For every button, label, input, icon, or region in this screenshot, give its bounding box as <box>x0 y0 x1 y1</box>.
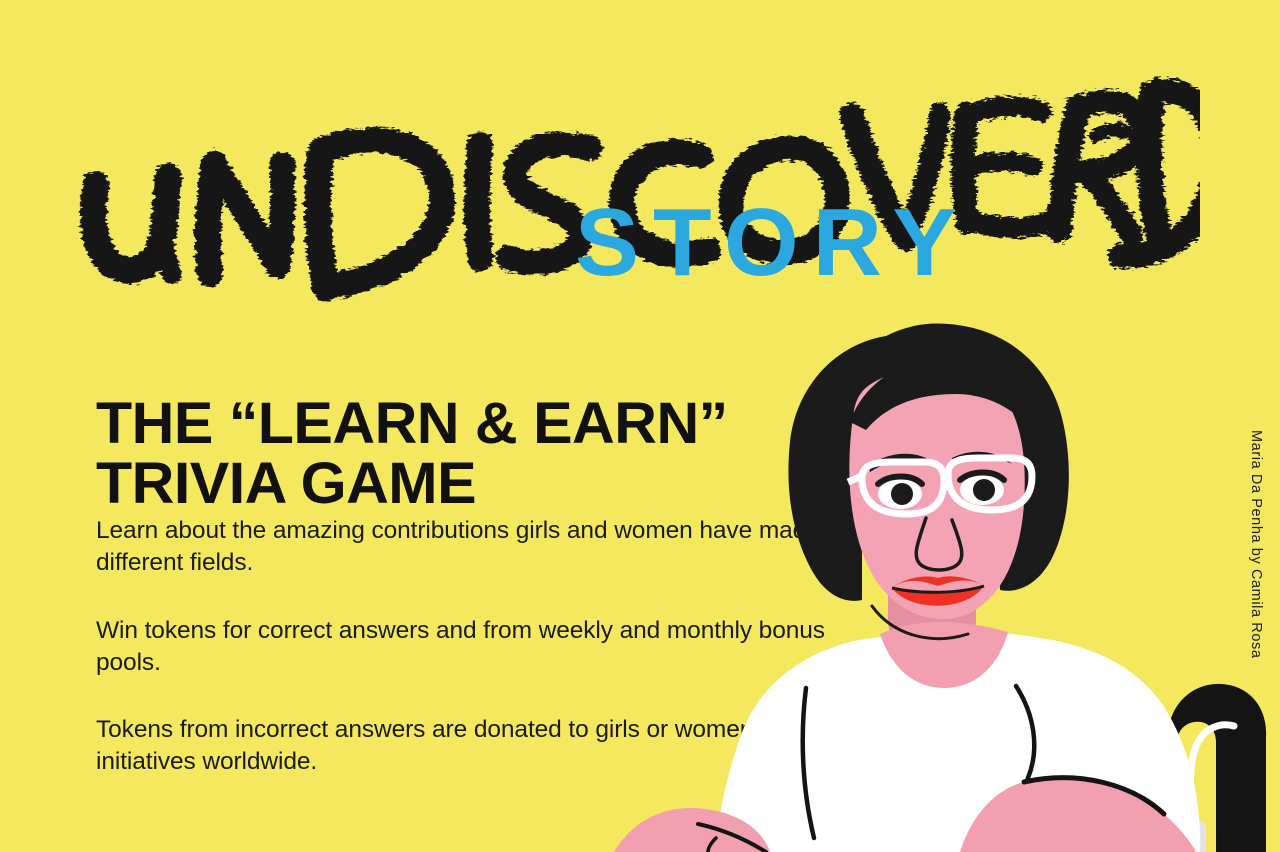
eye-right <box>973 479 995 501</box>
accent-wordmark-story: STORY <box>575 195 970 291</box>
brand-lockup: STORY <box>0 0 1280 320</box>
eye-left <box>891 483 913 505</box>
poster-canvas: STORY THE “LEARN & EARN” TRIVIA GAME Lea… <box>0 0 1280 852</box>
face-shape <box>848 358 1042 639</box>
illustration-maria-da-penha <box>600 290 1280 852</box>
